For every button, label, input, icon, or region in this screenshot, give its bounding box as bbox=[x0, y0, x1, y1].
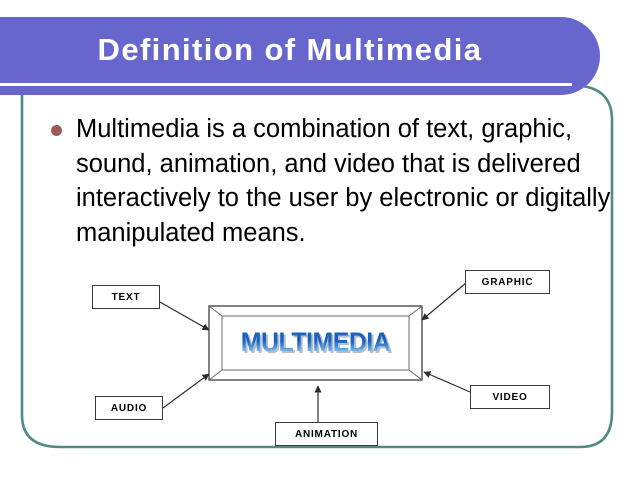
connector-audio bbox=[163, 374, 209, 408]
center-label: MULTIMEDIA bbox=[217, 327, 415, 357]
diagram-node-video[interactable]: VIDEO bbox=[470, 385, 550, 409]
diagram-center-frame[interactable]: MULTIMEDIA MULTIMEDIA bbox=[208, 305, 423, 381]
connector-video bbox=[424, 372, 470, 392]
multimedia-diagram: TEXT AUDIO GRAPHIC VIDEO ANIMATION MULTI… bbox=[0, 0, 640, 480]
connector-text bbox=[160, 302, 209, 330]
diagram-node-text[interactable]: TEXT bbox=[92, 285, 160, 309]
diagram-node-animation[interactable]: ANIMATION bbox=[275, 422, 378, 446]
diagram-node-audio[interactable]: AUDIO bbox=[95, 396, 163, 420]
connector-graphic bbox=[422, 283, 466, 320]
diagram-node-graphic[interactable]: GRAPHIC bbox=[465, 270, 550, 294]
slide-canvas: Definition of Multimedia Multimedia is a… bbox=[0, 0, 640, 480]
